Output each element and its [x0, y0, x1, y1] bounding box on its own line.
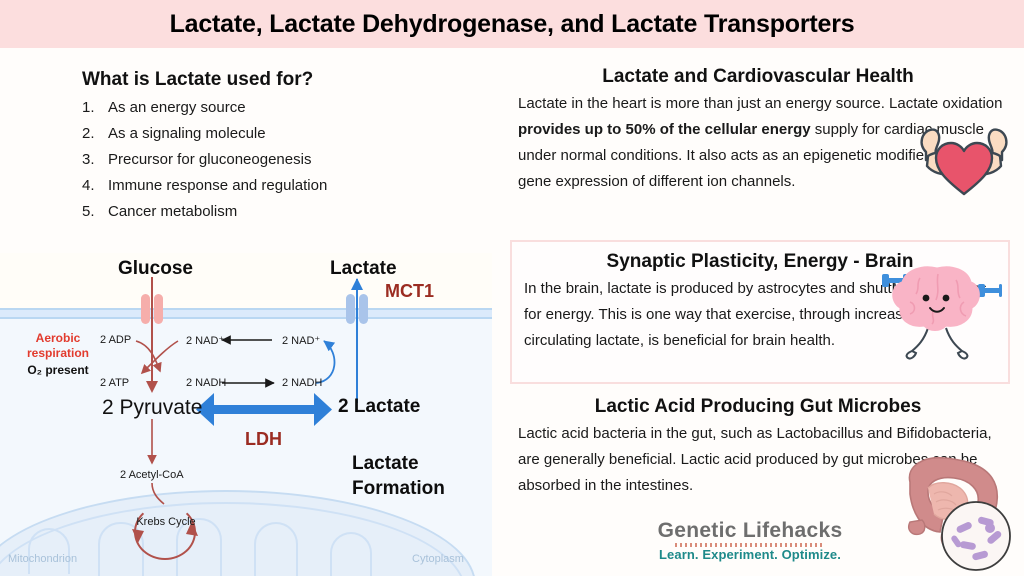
right-column: Lactate and Cardiovascular Health Lactat… — [492, 48, 1024, 576]
brand-logo: Genetic Lifehacks Learn. Experiment. Opt… — [650, 519, 850, 562]
nadh-right-label: 2 NADH — [282, 377, 322, 389]
nad-right-label: 2 NAD⁺ — [282, 334, 320, 347]
exercising-brain-icon — [872, 254, 1002, 371]
list-item: 3. Precursor for gluconeogenesis — [82, 147, 482, 173]
infographic-page: Lactate, Lactate Dehydrogenase, and Lact… — [0, 0, 1024, 576]
ldh-arrow — [196, 393, 332, 426]
krebs-cycle-label: Krebs Cycle — [136, 516, 196, 529]
section-gut-microbes: Lactic Acid Producing Gut Microbes Lacti… — [492, 396, 1024, 499]
cardio-text-1: Lactate in the heart is more than just a… — [518, 95, 1002, 112]
page-title: Lactate, Lactate Dehydrogenase, and Lact… — [170, 10, 855, 39]
glucose-label: Glucose — [118, 258, 193, 280]
section-title: Lactate and Cardiovascular Health — [492, 66, 1024, 88]
section-cardiovascular: Lactate and Cardiovascular Health Lactat… — [492, 66, 1024, 195]
list-item: 4. Immune response and regulation — [82, 173, 482, 199]
flexing-heart-icon — [908, 118, 1020, 205]
logo-name: Genetic Lifehacks — [650, 519, 850, 543]
ldh-label: LDH — [245, 429, 282, 450]
mct1-transporter-icon — [346, 294, 368, 324]
left-column: What is Lactate used for? 1. As an energ… — [0, 48, 492, 576]
list-item-number: 1. — [82, 95, 108, 121]
list-item-label: Precursor for gluconeogenesis — [108, 147, 311, 173]
cardio-text-bold: provides up to 50% of the cellular energ… — [518, 121, 811, 138]
mitochondrion-label: Mitochondrion — [8, 553, 77, 565]
list-item-number: 3. — [82, 147, 108, 173]
list-item: 2. As a signaling molecule — [82, 121, 482, 147]
list-item: 5. Cancer metabolism — [82, 199, 482, 225]
acetyl-coa-label: 2 Acetyl-CoA — [120, 469, 184, 481]
usage-list: 1. As an energy source 2. As a signaling… — [82, 95, 482, 225]
aerobic-respiration-label: Aerobic respiration — [12, 331, 104, 361]
title-banner: Lactate, Lactate Dehydrogenase, and Lact… — [0, 0, 1024, 48]
nadh-left-label: 2 NADH — [186, 377, 226, 389]
list-item-number: 5. — [82, 199, 108, 225]
list-item-number: 4. — [82, 173, 108, 199]
cytoplasm-label: Cytoplasm — [412, 553, 464, 565]
mct1-label: MCT1 — [385, 281, 434, 302]
section-brain: Synaptic Plasticity, Energy - Brain In t… — [510, 240, 1010, 384]
list-item-label: As an energy source — [108, 95, 246, 121]
list-item: 1. As an energy source — [82, 95, 482, 121]
lactate-in-label: 2 Lactate — [338, 396, 420, 418]
list-item-label: Immune response and regulation — [108, 173, 327, 199]
list-item-number: 2. — [82, 121, 108, 147]
logo-tagline: Learn. Experiment. Optimize. — [650, 547, 850, 562]
pyruvate-label: 2 Pyruvate — [102, 396, 202, 420]
oxygen-present-label: O₂ present — [12, 363, 104, 377]
metabolism-diagram: Glucose Lactate MCT1 Aerobic respiration… — [0, 253, 492, 576]
krebs-cycle-ring — [134, 504, 196, 560]
section-title: Lactic Acid Producing Gut Microbes — [492, 396, 1024, 418]
lactate-out-label: Lactate — [330, 258, 397, 280]
lactate-formation-label: Lactate Formation — [352, 451, 492, 501]
nad-left-label: 2 NAD⁺ — [186, 334, 224, 347]
list-item-label: As a signaling molecule — [108, 121, 266, 147]
atp-label: 2 ATP — [100, 377, 129, 389]
usage-heading: What is Lactate used for? — [82, 69, 313, 91]
adp-label: 2 ADP — [100, 334, 131, 346]
list-item-label: Cancer metabolism — [108, 199, 237, 225]
gut-microbes-icon — [880, 448, 1024, 576]
glucose-transporter-icon — [141, 294, 163, 324]
